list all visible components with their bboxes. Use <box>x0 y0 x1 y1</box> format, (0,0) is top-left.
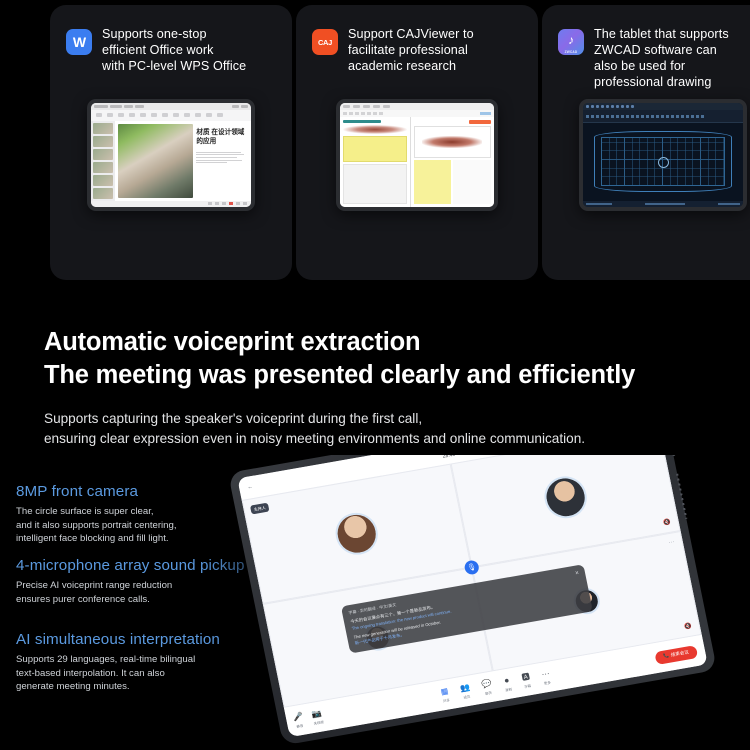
feature-ai-interpretation: AI simultaneous interpretation Supports … <box>16 631 220 694</box>
avatar <box>541 473 591 521</box>
volume-buttons <box>667 455 675 456</box>
card-title-wps: Supports one-stop efficient Office work … <box>102 27 246 75</box>
wps-slide-thumbnails <box>91 121 115 201</box>
feature-microphone-array: 4-microphone array sound pickup Precise … <box>16 557 245 606</box>
cajviewer-document-screenshot <box>336 99 498 211</box>
video-label: 关视频 <box>313 719 324 726</box>
cad-screen <box>583 103 743 207</box>
avatar <box>332 510 382 558</box>
more-icon: ··· <box>541 669 550 678</box>
caj-action-chip <box>469 120 491 124</box>
card-header: CAJ Support CAJViewer to facilitate prof… <box>312 27 526 75</box>
headline-block: Automatic voiceprint extraction The meet… <box>44 326 734 449</box>
feature-body: Precise AI voiceprint range reduction en… <box>16 579 245 606</box>
host-badge: 主持人 <box>250 503 270 515</box>
caj-text-block <box>343 164 407 204</box>
slide-heading: 材质 在设计领域 的应用 <box>196 128 248 147</box>
card-header: W Supports one-stop efficient Office wor… <box>66 27 280 75</box>
cad-statusbar <box>583 201 743 207</box>
promotional-page: W Supports one-stop efficient Office wor… <box>0 0 750 750</box>
cajviewer-icon: CAJ <box>312 29 338 55</box>
hero-section: 8MP front camera The circle surface is s… <box>0 455 750 750</box>
wps-statusbar <box>91 201 251 207</box>
caj-page-right <box>411 117 494 207</box>
microphone-icon: 🎤 <box>292 712 303 722</box>
card-title-caj: Support CAJViewer to facilitate professi… <box>348 27 474 75</box>
record-button[interactable]: ⏺ 录制 <box>503 676 513 692</box>
toolbar-left-group: 🎤 静音 📷 关视频 <box>292 709 324 729</box>
wps-office-presentation-screenshot: 材质 在设计领域 的应用 <box>87 99 255 211</box>
caj-text-columns <box>414 160 491 204</box>
share-button[interactable]: ▦ 共享 <box>440 687 450 703</box>
slide-text: 材质 在设计领域 的应用 <box>196 124 248 198</box>
headline-line-1: Automatic voiceprint extraction <box>44 326 734 359</box>
feature-front-camera: 8MP front camera The circle surface is s… <box>16 483 177 546</box>
phone-icon: 📞 <box>663 653 670 660</box>
wps-titlebar <box>91 103 251 110</box>
caj-page-left <box>340 117 411 207</box>
feature-title: 8MP front camera <box>16 483 177 500</box>
cad-drawing-canvas <box>583 123 743 201</box>
caj-plain-column <box>453 160 491 204</box>
more-button[interactable]: ··· 更多 <box>541 669 552 685</box>
zwcad-icon: ♪ ZWCAD <box>558 29 584 55</box>
caj-figure-bar <box>343 120 381 123</box>
caj-highlight-block <box>343 136 407 162</box>
headline-line-2: The meeting was presented clearly and ef… <box>44 359 734 392</box>
cad-ribbon <box>583 110 743 123</box>
cad-floorplan-drawing <box>594 131 732 192</box>
record-label: 录制 <box>505 686 513 692</box>
zwcad-icon-label: ZWCAD <box>558 50 584 54</box>
wps-workspace: 材质 在设计领域 的应用 <box>91 121 251 201</box>
caj-toolbar <box>340 110 494 117</box>
members-icon: 👥 <box>459 683 470 693</box>
wps-ribbon <box>91 110 251 120</box>
zwcad-floorplan-screenshot <box>579 99 747 211</box>
chat-button[interactable]: 💬 聊天 <box>481 679 494 695</box>
members-label: 成员 <box>461 693 472 700</box>
mute-button[interactable]: 🎤 静音 <box>292 712 305 728</box>
caj-document-body <box>340 117 494 207</box>
wps-active-slide: 材质 在设计领域 的应用 <box>115 121 251 201</box>
caj-plot-figure <box>414 126 491 158</box>
caj-screen <box>340 103 494 207</box>
more-label: 更多 <box>543 679 552 685</box>
slide-image <box>118 124 193 198</box>
caj-menubar <box>340 103 494 110</box>
card-zwcad[interactable]: ♪ ZWCAD The tablet that supports ZWCAD s… <box>542 5 750 280</box>
slide-body-lines <box>196 152 248 164</box>
card-wps-office[interactable]: W Supports one-stop efficient Office wor… <box>50 5 292 280</box>
caj-waveform <box>343 125 407 134</box>
caj-highlighted-column <box>414 160 452 204</box>
card-header: ♪ ZWCAD The tablet that supports ZWCAD s… <box>558 27 750 91</box>
cad-menubar <box>583 103 743 110</box>
feature-title: AI simultaneous interpretation <box>16 631 220 648</box>
caption-icon: 🅰 <box>521 673 530 682</box>
chat-label: 聊天 <box>483 689 494 696</box>
tablet-device-mockup: ← 2025年3月3日小组需求会议 28:43 ⤢ 主持人 ··· 🔇 <box>228 455 750 750</box>
meeting-app-screen: ← 2025年3月3日小组需求会议 28:43 ⤢ 主持人 ··· 🔇 <box>237 455 707 737</box>
share-icon: ▦ <box>440 687 449 696</box>
record-icon: ⏺ <box>503 676 511 685</box>
card-title-zwcad: The tablet that supports ZWCAD software … <box>594 27 729 91</box>
leave-meeting-button[interactable]: 📞 结束会议 <box>654 645 698 665</box>
wps-icon-glyph: W <box>73 34 85 50</box>
headline-subcopy: Supports capturing the speaker's voicepr… <box>44 409 734 448</box>
leave-meeting-label: 结束会议 <box>670 649 689 658</box>
muted-icon: 🔇 <box>663 519 672 527</box>
camera-icon: 📷 <box>311 709 323 719</box>
feature-body: Supports 29 languages, real-time bilingu… <box>16 653 220 694</box>
tile-menu-icon[interactable]: ··· <box>668 539 675 546</box>
card-cajviewer[interactable]: CAJ Support CAJViewer to facilitate prof… <box>296 5 538 280</box>
caption-label: 字幕 <box>523 682 532 688</box>
wps-office-icon: W <box>66 29 92 55</box>
members-button[interactable]: 👥 成员 <box>459 683 472 699</box>
chat-icon: 💬 <box>481 679 492 689</box>
tablet-frame: ← 2025年3月3日小组需求会议 28:43 ⤢ 主持人 ··· 🔇 <box>228 455 717 745</box>
zwcad-icon-glyph: ♪ <box>568 34 574 46</box>
software-support-cards: W Supports one-stop efficient Office wor… <box>0 0 750 290</box>
feature-title: 4-microphone array sound pickup <box>16 557 245 574</box>
video-button[interactable]: 📷 关视频 <box>311 709 324 725</box>
wps-screen: 材质 在设计领域 的应用 <box>91 103 251 207</box>
close-icon[interactable]: ✕ <box>575 570 580 577</box>
mute-label: 静音 <box>294 722 305 729</box>
speaker-grille <box>676 474 688 520</box>
feature-body: The circle surface is super clear, and i… <box>16 505 177 546</box>
muted-icon: 🔇 <box>684 623 693 631</box>
share-label: 共享 <box>442 697 450 703</box>
caption-button[interactable]: 🅰 字幕 <box>521 673 532 689</box>
